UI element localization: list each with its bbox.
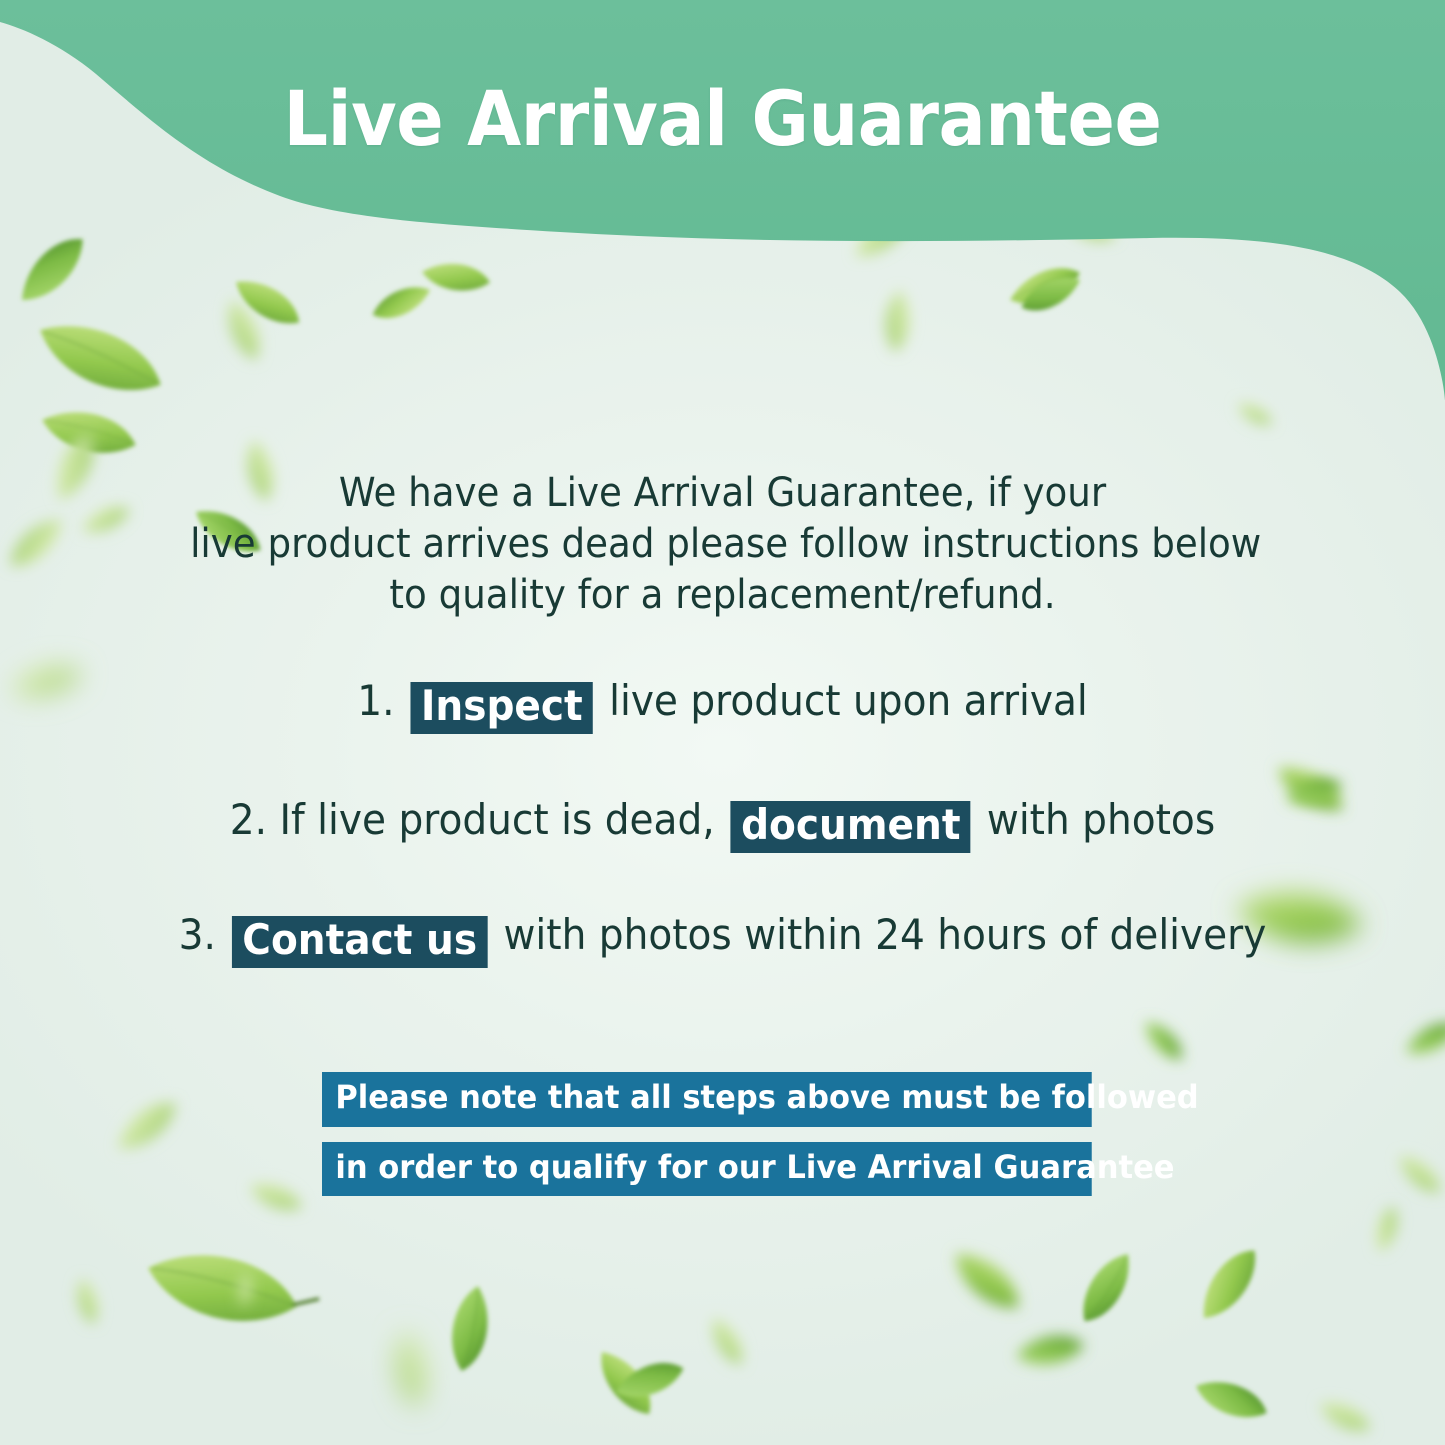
step-text-before: If live product is dead, xyxy=(280,795,715,844)
note-line-2: in order to qualify for our Live Arrival… xyxy=(322,1142,1092,1197)
page-title: Live Arrival Guarantee xyxy=(58,74,1387,163)
step-number: 3. xyxy=(179,910,216,959)
step-text-after: live product upon arrival xyxy=(609,676,1088,725)
intro-line-3: to quality for a replacement/refund. xyxy=(190,570,1255,621)
step-text-after: with photos xyxy=(987,795,1215,844)
note-line-1: Please note that all steps above must be… xyxy=(322,1072,1092,1127)
intro-line-2: live product arrives dead please follow … xyxy=(190,519,1255,570)
step-highlight-contact-us[interactable]: Contact us xyxy=(232,916,487,968)
step-text-after: with photos within 24 hours of delivery xyxy=(503,910,1266,959)
intro-paragraph: We have a Live Arrival Guarantee, if you… xyxy=(190,468,1255,622)
step-highlight-document[interactable]: document xyxy=(731,801,971,853)
step-number: 2. xyxy=(230,795,267,844)
notes-block: Please note that all steps above must be… xyxy=(322,1072,1128,1196)
intro-line-1: We have a Live Arrival Guarantee, if you… xyxy=(190,468,1255,519)
step-number: 1. xyxy=(357,676,394,725)
list-item: 3. Contact us with photos within 24 hour… xyxy=(51,910,1395,963)
step-highlight-inspect[interactable]: Inspect xyxy=(411,682,593,734)
steps-list: 1. Inspect live product upon arrival 2. … xyxy=(0,676,1445,963)
content-layer: We have a Live Arrival Guarantee, if you… xyxy=(0,0,1445,1445)
list-item: 1. Inspect live product upon arrival xyxy=(51,676,1395,729)
poster-canvas: Live Arrival Guarantee xyxy=(0,0,1445,1445)
list-item: 2. If live product is dead, document wit… xyxy=(51,795,1395,848)
